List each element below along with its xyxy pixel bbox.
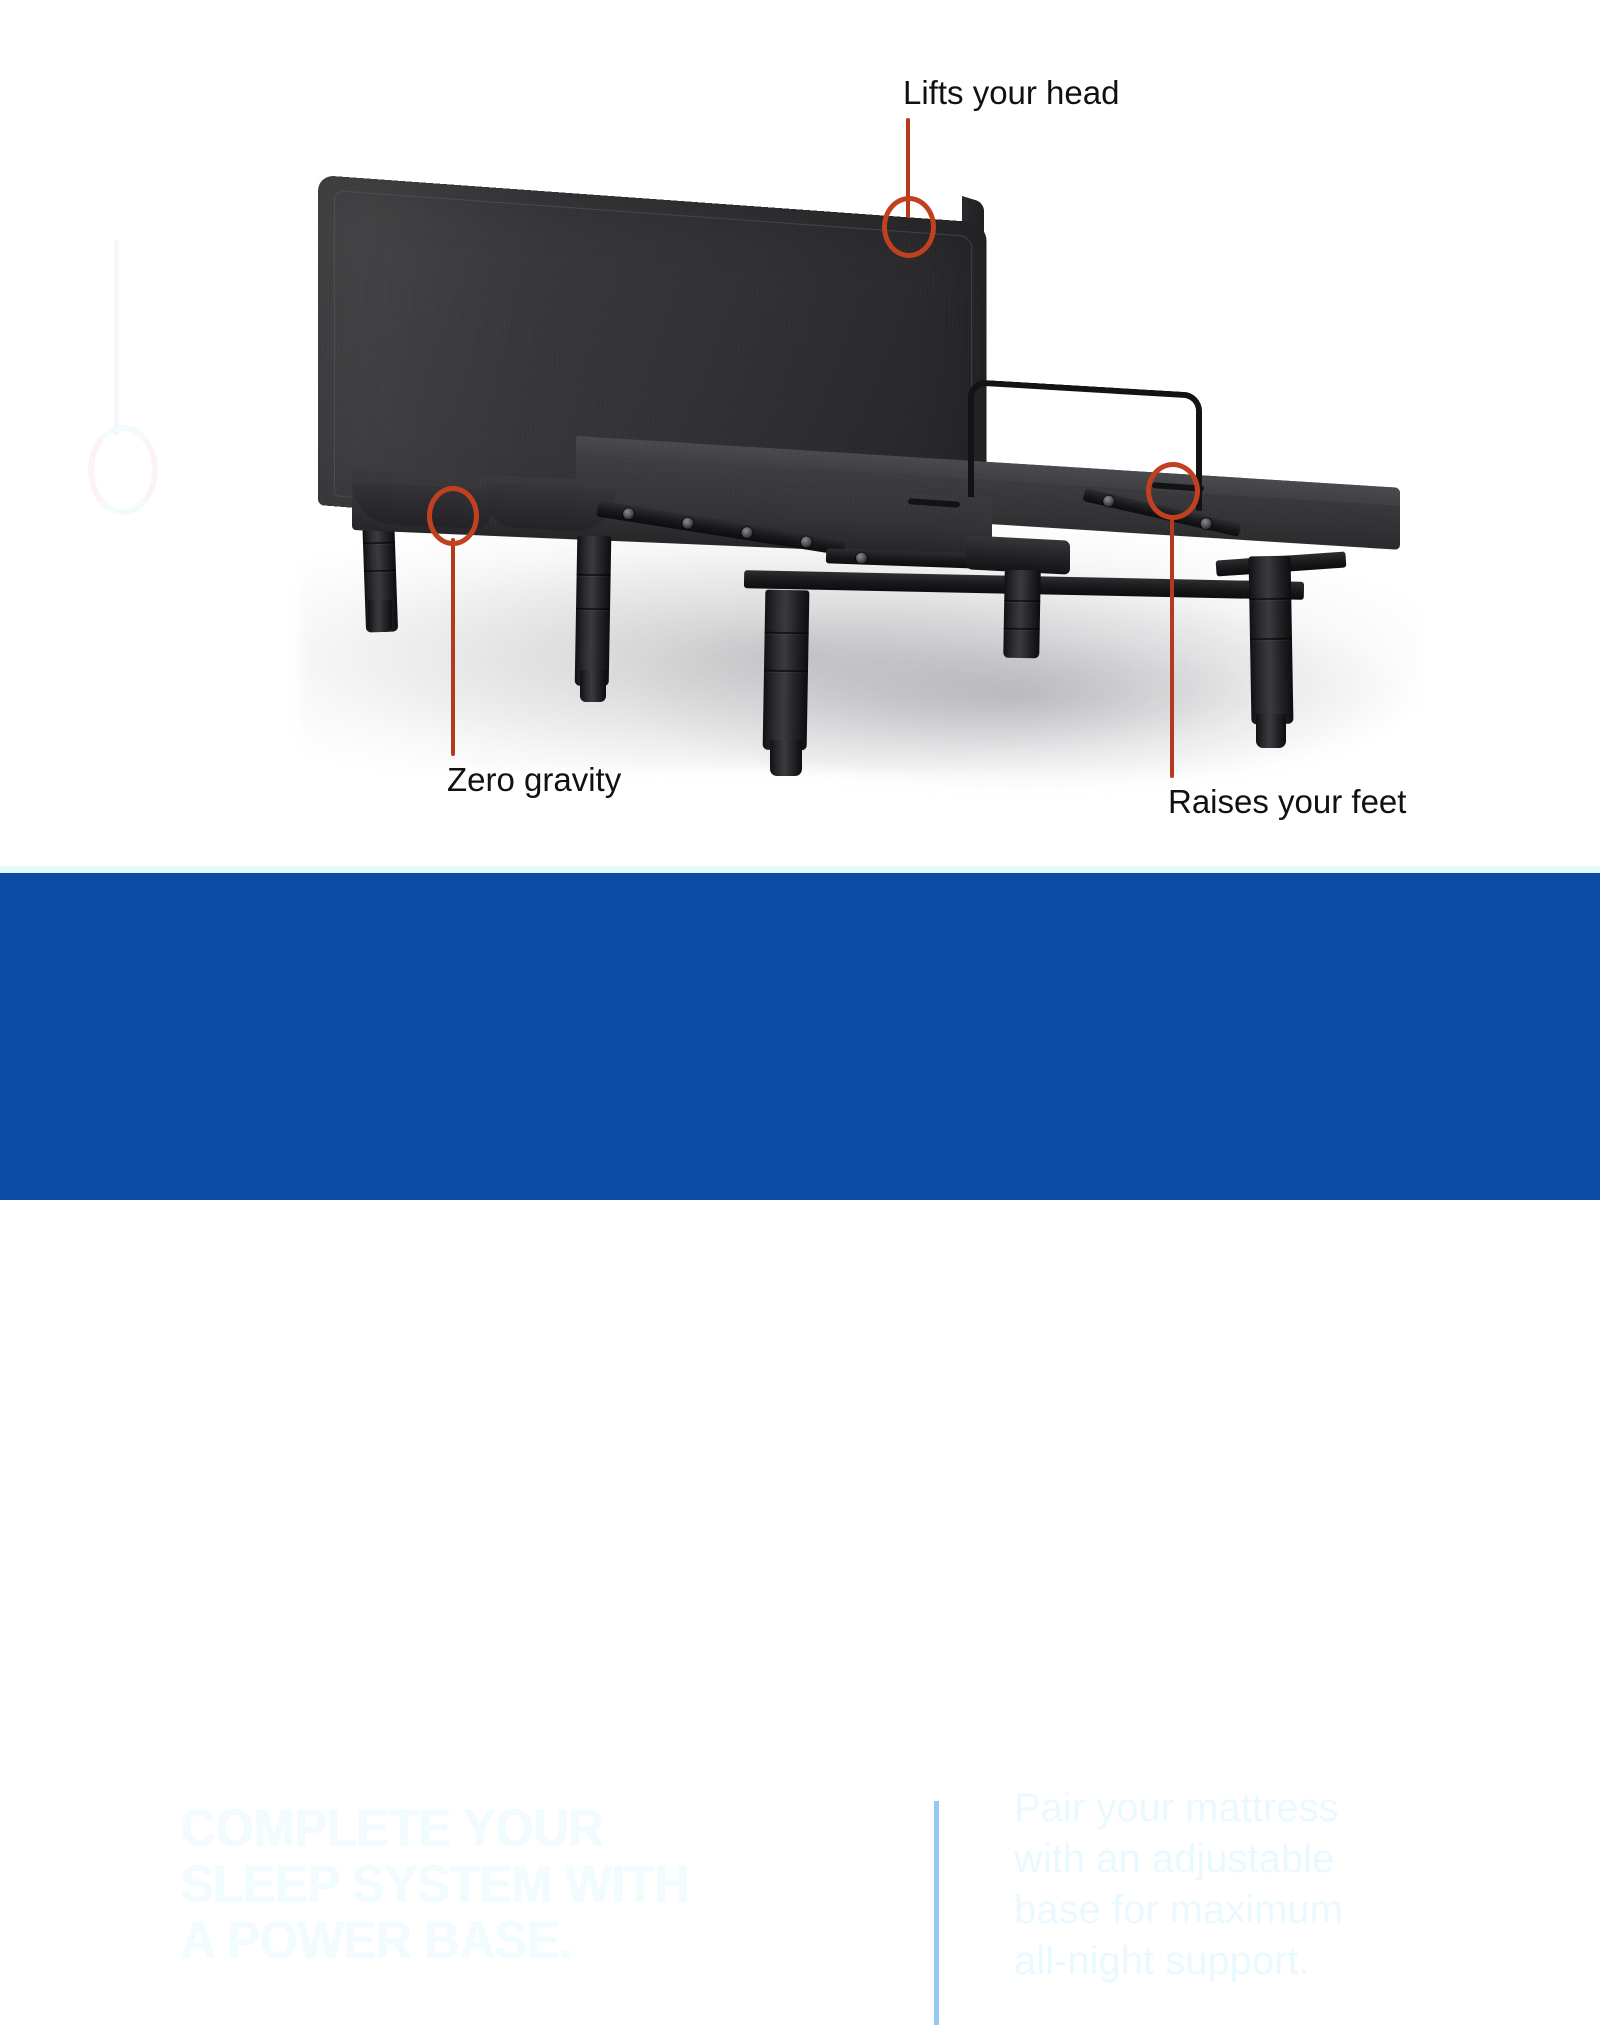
bed-leg-rear-right (1003, 570, 1041, 659)
callout-line-feet (1170, 516, 1174, 778)
banner-top-hairline (0, 866, 1600, 873)
callout-ring-feet (1146, 462, 1200, 520)
bed-leg-front-right (1249, 556, 1294, 725)
bed-leg-front-right-tip (1256, 714, 1286, 748)
callout-label-head: Lifts your head (903, 76, 1119, 109)
subcopy-line-3: base for maximum (1014, 1885, 1434, 1936)
bed-leg-front-center-tip (770, 740, 802, 776)
banner-subcopy: Pair your mattress with an adjustable ba… (1014, 1783, 1434, 1987)
callout-label-feet: Raises your feet (1168, 785, 1406, 818)
subcopy-line-1: Pair your mattress (1014, 1783, 1434, 1834)
headline-line-3: A POWER BASE. (180, 1913, 689, 1969)
banner-headline: COMPLETE YOUR SLEEP SYSTEM WITH A POWER … (180, 1801, 689, 1969)
headline-line-2: SLEEP SYSTEM WITH (180, 1857, 689, 1913)
subcopy-line-2: with an adjustable (1014, 1834, 1434, 1885)
callout-ring-zerog (427, 486, 479, 546)
banner-vertical-divider (934, 1801, 939, 2025)
promo-page: Lifts your head Zero gravity Raises your… (0, 0, 1600, 1200)
callout-label-zerog: Zero gravity (447, 763, 621, 796)
headline-line-1: COMPLETE YOUR (180, 1801, 689, 1857)
bed-leg-front-center (763, 590, 810, 751)
subcopy-line-4: all-night support. (1014, 1936, 1434, 1987)
bed-leg-back-left-lower (368, 600, 392, 632)
adjustable-bed-base (0, 0, 1600, 873)
hero-product-image: Lifts your head Zero gravity Raises your… (0, 0, 1600, 873)
bed-leg-mid-left (575, 536, 612, 687)
callout-line-zerog (451, 538, 455, 756)
callout-ring-head (882, 196, 936, 258)
bed-leg-mid-left-tip (580, 670, 606, 702)
promo-banner: COMPLETE YOUR SLEEP SYSTEM WITH A POWER … (0, 873, 1600, 1200)
lift-motor-housing (966, 535, 1070, 574)
